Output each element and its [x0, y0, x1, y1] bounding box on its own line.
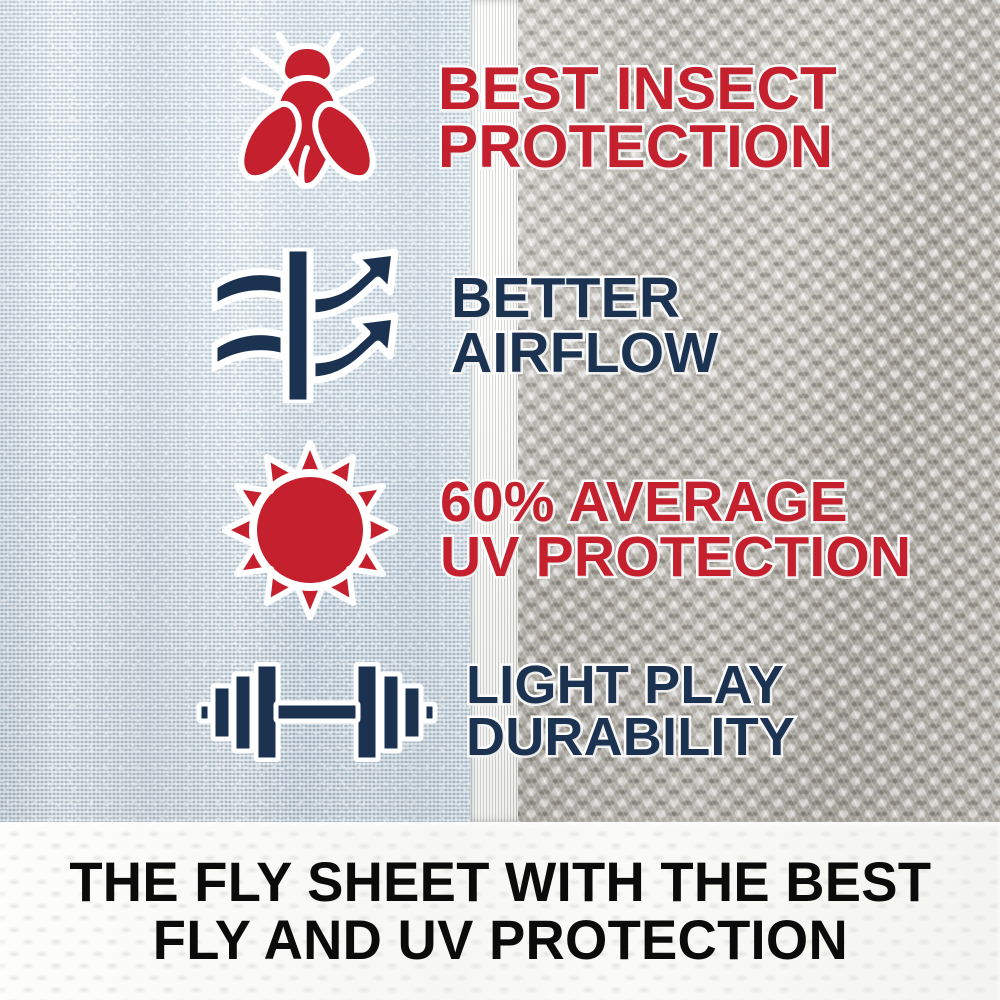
feature-row-uv-protection: 60% AVERAGE UV PROTECTION	[222, 440, 911, 620]
feature-line: LIGHT PLAY	[466, 660, 795, 712]
feature-line: BETTER	[451, 271, 718, 326]
banner-line-2: FLY AND UV PROTECTION	[152, 911, 847, 969]
fly-icon	[232, 28, 382, 208]
feature-line: 60% AVERAGE	[440, 475, 911, 530]
feature-label-light-play-durability: LIGHT PLAY DURABILITY	[466, 660, 795, 764]
feature-line: AIRFLOW	[451, 326, 718, 381]
feature-line: BEST INSECT	[438, 60, 837, 118]
feature-label-insect-protection: BEST INSECT PROTECTION	[438, 60, 837, 175]
feature-row-better-airflow: BETTER AIRFLOW	[212, 248, 718, 403]
airflow-icon	[212, 248, 407, 403]
feature-line: PROTECTION	[438, 118, 837, 176]
feature-line: UV PROTECTION	[440, 530, 911, 585]
dumbbell-icon	[196, 662, 438, 762]
banner-line-1: THE FLY SHEET WITH THE BEST	[69, 853, 931, 911]
product-feature-poster: BEST INSECT PROTECTION	[0, 0, 1000, 1000]
feature-label-uv-protection: 60% AVERAGE UV PROTECTION	[440, 475, 911, 584]
bottom-tagline-banner: THE FLY SHEET WITH THE BEST FLY AND UV P…	[0, 822, 1000, 1000]
feature-row-insect-protection: BEST INSECT PROTECTION	[232, 28, 837, 208]
sun-icon	[222, 440, 398, 620]
feature-line: DURABILITY	[466, 712, 795, 764]
feature-label-better-airflow: BETTER AIRFLOW	[451, 271, 718, 380]
feature-row-light-play-durability: LIGHT PLAY DURABILITY	[196, 660, 795, 764]
